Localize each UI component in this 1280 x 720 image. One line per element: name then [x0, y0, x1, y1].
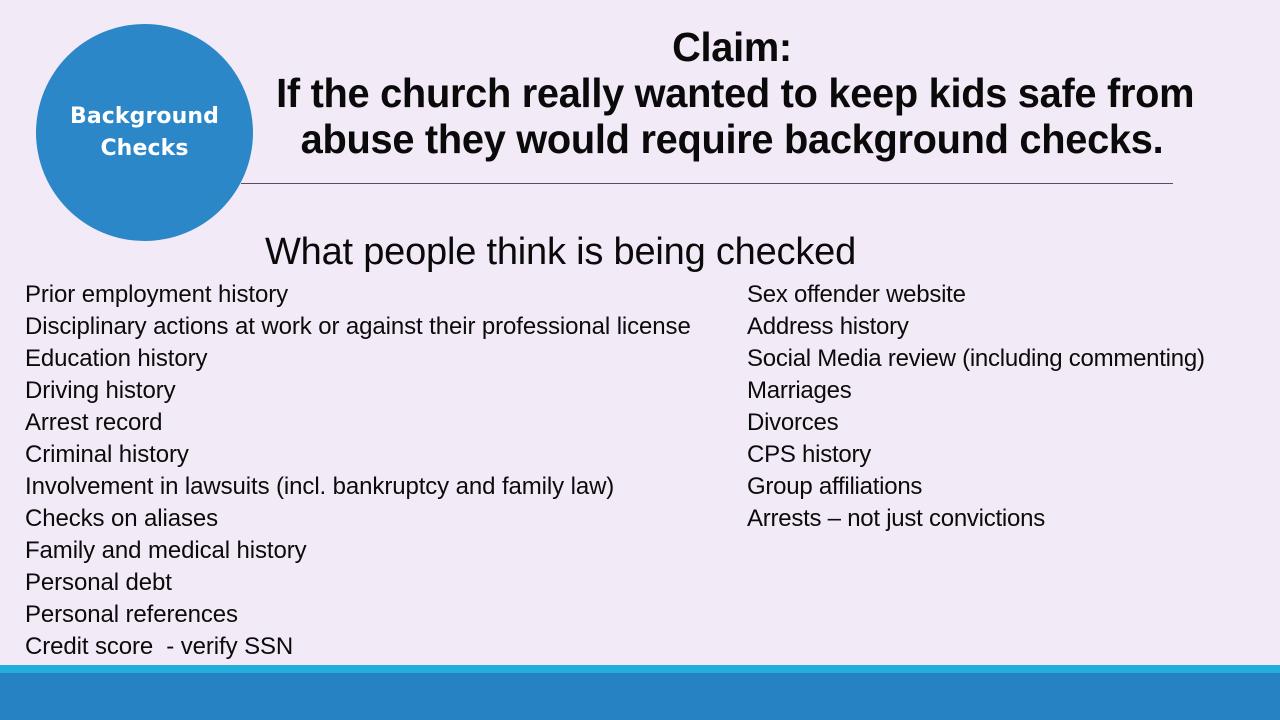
- title-line-1: Claim:: [276, 24, 1188, 70]
- title-line-2: If the church really wanted to keep kids…: [276, 70, 1188, 116]
- bottom-bar: [0, 673, 1280, 720]
- title-divider: [241, 183, 1173, 184]
- list-item: Disciplinary actions at work or against …: [25, 311, 735, 343]
- list-item: CPS history: [747, 439, 1267, 471]
- list-item: Criminal history: [25, 439, 735, 471]
- list-item: Arrest record: [25, 407, 735, 439]
- title-line-3: abuse they would require background chec…: [276, 116, 1188, 162]
- section-subtitle: What people think is being checked: [265, 229, 856, 275]
- checks-list-right: Sex offender websiteAddress historySocia…: [747, 279, 1267, 535]
- list-item: Arrests – not just convictions: [747, 503, 1267, 535]
- slide-canvas: Background Checks Claim: If the church r…: [0, 0, 1280, 720]
- list-item: Driving history: [25, 375, 735, 407]
- list-item: Divorces: [747, 407, 1267, 439]
- background-checks-badge: Background Checks: [36, 24, 253, 241]
- list-item: Checks on aliases: [25, 503, 735, 535]
- list-item: Family and medical history: [25, 535, 735, 567]
- list-item: Prior employment history: [25, 279, 735, 311]
- bottom-accent-stripe: [0, 665, 1280, 673]
- claim-title-block: Claim: If the church really wanted to ke…: [262, 24, 1202, 162]
- list-item: Personal debt: [25, 567, 735, 599]
- list-item: Marriages: [747, 375, 1267, 407]
- list-item: Group affiliations: [747, 471, 1267, 503]
- badge-label: Background Checks: [54, 101, 235, 165]
- list-item: Education history: [25, 343, 735, 375]
- list-item: Involvement in lawsuits (incl. bankruptc…: [25, 471, 735, 503]
- checks-list-left: Prior employment historyDisciplinary act…: [25, 279, 735, 663]
- list-item: Social Media review (including commentin…: [747, 343, 1267, 375]
- list-item: Personal references: [25, 599, 735, 631]
- list-item: Sex offender website: [747, 279, 1267, 311]
- list-item: Address history: [747, 311, 1267, 343]
- list-item: Credit score - verify SSN: [25, 631, 735, 663]
